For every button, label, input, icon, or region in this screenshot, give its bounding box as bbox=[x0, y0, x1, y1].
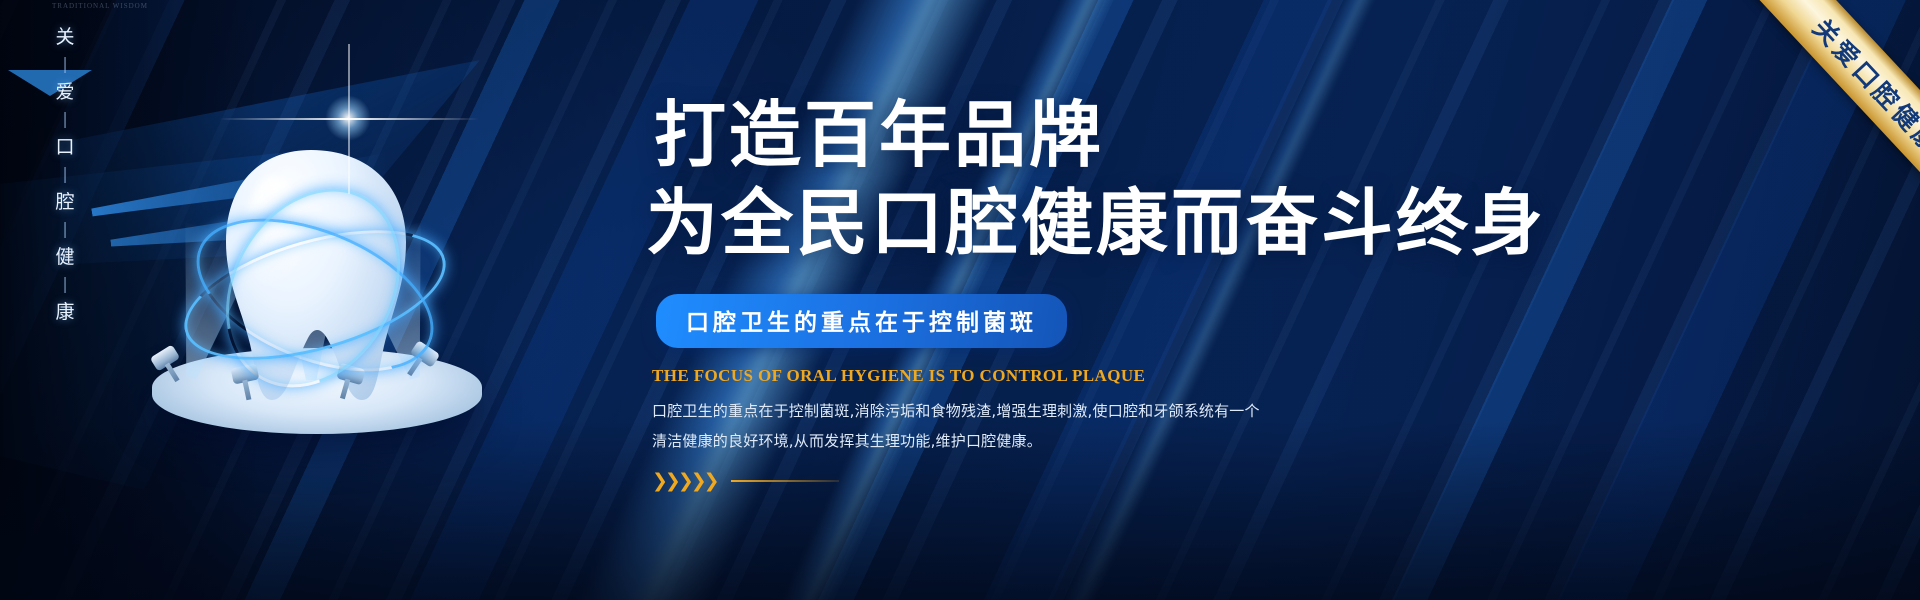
corner-ribbon-text: 关爱口腔健康 bbox=[1805, 10, 1920, 162]
accent-line bbox=[731, 480, 839, 482]
vertical-slogan-char: 康 bbox=[55, 303, 74, 322]
corner-ribbon: 关爱口腔健康 bbox=[1620, 0, 1920, 230]
vertical-slogan-char: 腔 bbox=[55, 193, 74, 212]
brandmark-text: TRADITIONAL WISDOM bbox=[52, 2, 148, 10]
vertical-slogan-separator: — bbox=[57, 57, 73, 73]
chevron-accent: ❯❯❯❯❯ bbox=[652, 470, 1808, 492]
slogan-pill-label: 口腔卫生的重点在于控制菌斑 bbox=[686, 310, 1037, 336]
description-line-2: 清洁健康的良好环境,从而发挥其生理功能,维护口腔健康。 bbox=[652, 426, 1808, 456]
chevron-right-icon: ❯❯❯❯❯ bbox=[652, 470, 717, 492]
vertical-slogan-separator: — bbox=[57, 277, 73, 293]
english-subtitle: THE FOCUS OF ORAL HYGIENE IS TO CONTROL … bbox=[652, 366, 1808, 386]
description-line-1: 口腔卫生的重点在于控制菌斑,消除污垢和食物残渣,增强生理刺激,使口腔和牙颌系统有… bbox=[652, 396, 1808, 426]
vertical-slogan-char: 爱 bbox=[55, 83, 74, 102]
dental-promo-banner: TRADITIONAL WISDOM 关 — 爱 — 口 — 腔 — 健 — 康… bbox=[0, 0, 1920, 600]
vertical-slogan-separator: — bbox=[57, 222, 73, 238]
vertical-slogan-separator: — bbox=[57, 112, 73, 128]
vertical-slogan-char: 口 bbox=[55, 138, 74, 157]
description-paragraph: 口腔卫生的重点在于控制菌斑,消除污垢和食物残渣,增强生理刺激,使口腔和牙颌系统有… bbox=[652, 396, 1808, 456]
vertical-slogan-char: 关 bbox=[55, 28, 74, 47]
sparkle-icon bbox=[348, 118, 350, 120]
tooth-illustration bbox=[120, 80, 520, 480]
vertical-slogan-char: 健 bbox=[55, 248, 74, 267]
slogan-pill[interactable]: 口腔卫生的重点在于控制菌斑 bbox=[656, 294, 1067, 348]
vertical-slogan-separator: — bbox=[57, 167, 73, 183]
vertical-slogan: 关 — 爱 — 口 — 腔 — 健 — 康 bbox=[42, 28, 88, 322]
corner-ribbon-band: 关爱口腔健康 bbox=[1701, 0, 1920, 230]
